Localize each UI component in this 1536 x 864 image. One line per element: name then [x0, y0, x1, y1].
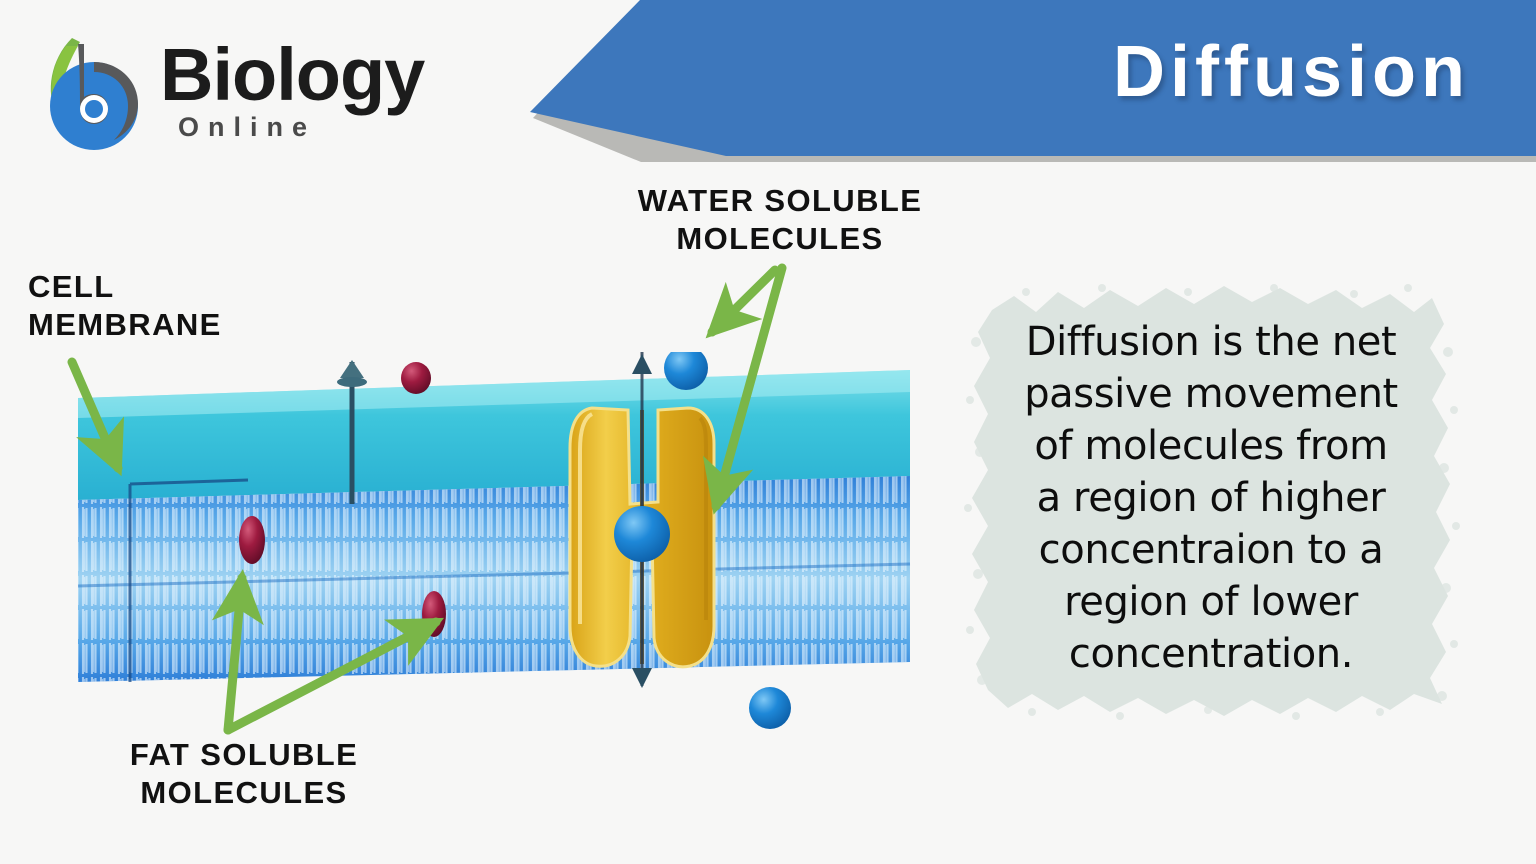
- label-cell-membrane: CELL MEMBRANE: [28, 268, 222, 344]
- fat-soluble-molecule-upper: [239, 516, 265, 564]
- label-water-soluble-molecules: WATER SOLUBLE MOLECULES: [588, 182, 972, 258]
- label-water-soluble-line1: WATER SOLUBLE: [588, 182, 972, 220]
- definition-line: of molecules from: [986, 420, 1436, 472]
- definition-text: Diffusion is the net passive movement of…: [986, 316, 1436, 680]
- label-cell-membrane-line1: CELL: [28, 268, 222, 306]
- logo-mark-icon: [36, 34, 152, 152]
- transport-arrow-head-top: [632, 354, 652, 374]
- cell-membrane-illustration: [72, 352, 920, 692]
- definition-line: region of lower: [986, 576, 1436, 628]
- fat-soluble-molecule-surface: [401, 362, 431, 394]
- label-water-soluble-line2: MOLECULES: [588, 220, 972, 258]
- definition-line: concentraion to a: [986, 524, 1436, 576]
- definition-callout-box: Diffusion is the net passive movement of…: [962, 282, 1460, 720]
- brand-logo[interactable]: Biology Online: [28, 28, 498, 156]
- logo-subtitle: Online: [178, 114, 316, 141]
- page-title: Diffusion: [1113, 36, 1470, 108]
- definition-line: passive movement: [986, 368, 1436, 420]
- arrow-water-soluble-left: [712, 270, 775, 332]
- slide-canvas: Diffusion Biology Online: [0, 0, 1536, 864]
- transport-arrow-head-bottom: [632, 668, 652, 688]
- label-fat-soluble-molecules: FAT SOLUBLE MOLECULES: [88, 736, 400, 812]
- water-soluble-molecule-exit: [740, 676, 804, 740]
- fat-soluble-molecule-lower: [422, 591, 446, 637]
- phospholipid-tails-texture: [78, 476, 910, 682]
- logo-wordmark: Biology: [160, 38, 424, 112]
- definition-line: a region of higher: [986, 472, 1436, 524]
- definition-line: Diffusion is the net: [986, 316, 1436, 368]
- label-cell-membrane-line2: MEMBRANE: [28, 306, 222, 344]
- label-fat-soluble-line1: FAT SOLUBLE: [88, 736, 400, 774]
- label-fat-soluble-line2: MOLECULES: [88, 774, 400, 812]
- definition-line: concentration.: [986, 628, 1436, 680]
- water-soluble-molecule-channel: [614, 506, 670, 562]
